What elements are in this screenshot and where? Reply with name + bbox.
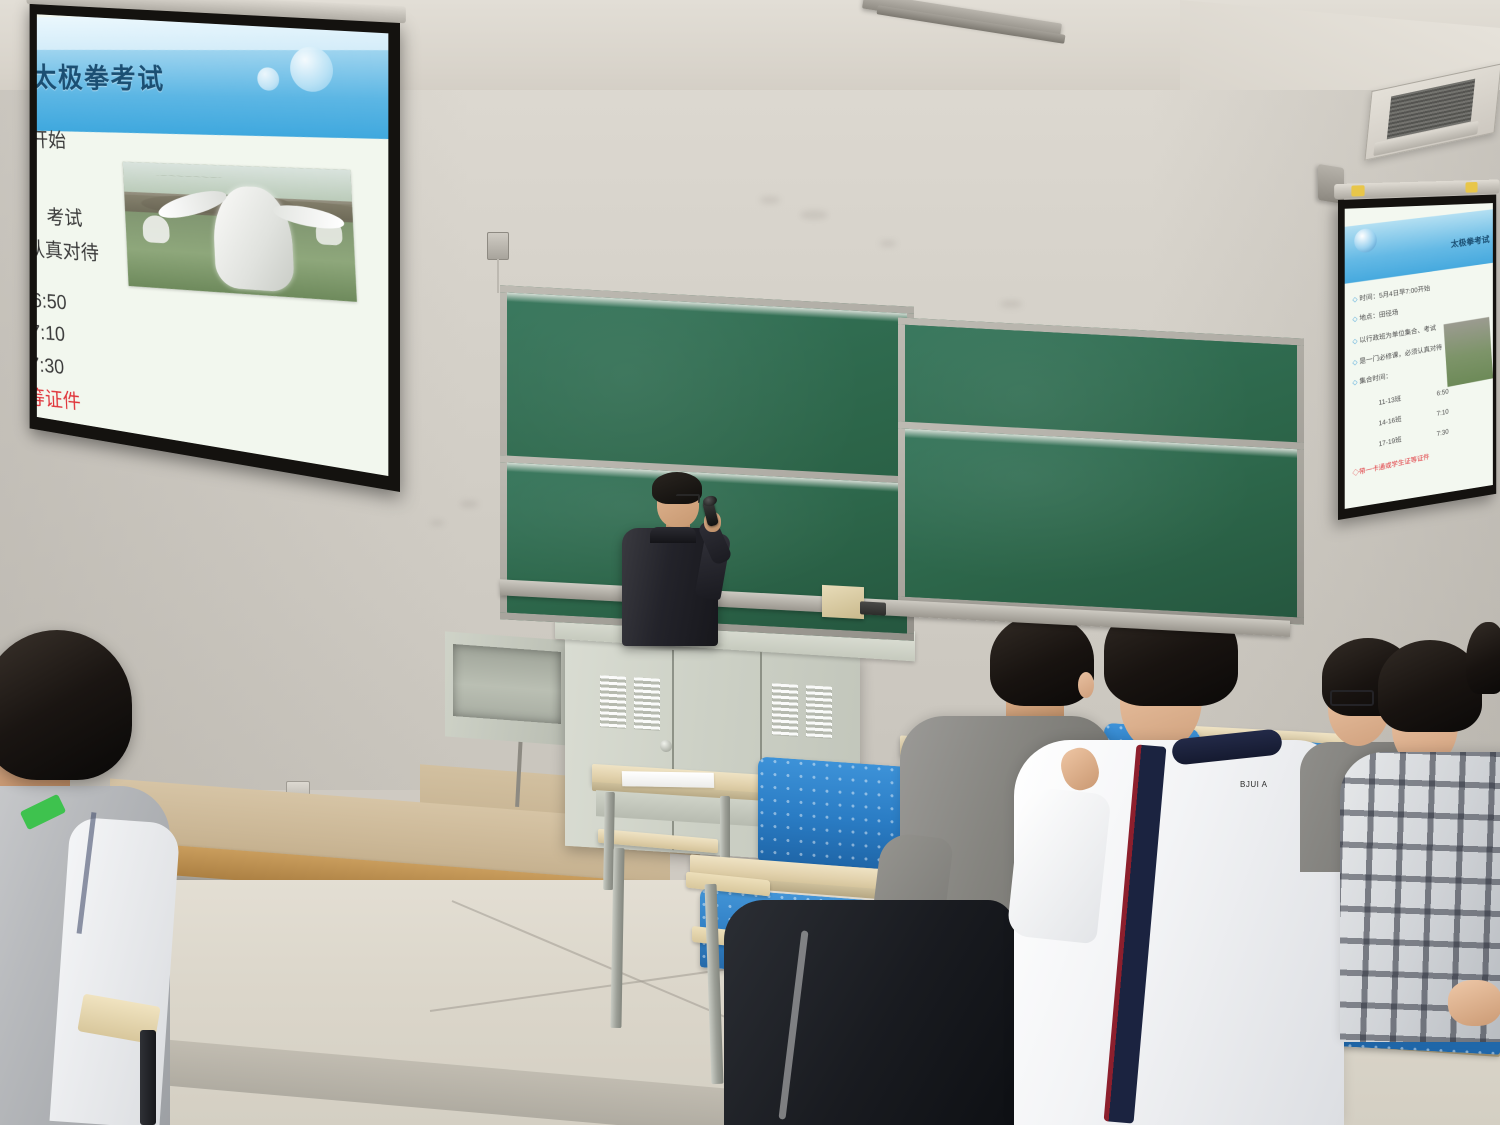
projection-screen-right: 太极拳考试 ◇时间：5月4日早7:00开始 ◇地点：田径场 ◇以行政班为单位集合… <box>1338 195 1496 520</box>
jacket-logo: BJUI A <box>1240 780 1272 789</box>
podium-shelf-interior <box>453 644 561 724</box>
blackboard-eraser <box>860 601 886 615</box>
slide-schedule-class: 14-16班 <box>1378 414 1402 428</box>
slide-line: 认真对待 <box>37 233 100 267</box>
slide-title: 太极拳考试 <box>37 55 166 97</box>
wall-scuff <box>430 520 444 526</box>
screen-surface: 太极拳考试 ◇时间：5月4日早7:00开始 ◇地点：田径场 ◇以行政班为单位集合… <box>1345 203 1493 509</box>
wall-scuff <box>880 240 896 247</box>
slide-footer-red: 带一卡通或学生证等证件 <box>1359 454 1430 476</box>
slide-line: 、考试 <box>37 200 83 232</box>
paper-sheet <box>622 771 714 788</box>
lecturer-collar <box>650 527 696 543</box>
slide-bullet: 时间：5月4日早7:00开始 <box>1359 286 1430 303</box>
slide-time: 7:10 <box>37 320 66 347</box>
slide-schedule-class: 17-19班 <box>1378 434 1402 448</box>
slide-line: 开始 <box>37 123 67 153</box>
screen-surface: 太极拳考试 开始 、考试 认真对待 6:50 7:10 7:30 等证件 <box>37 14 389 476</box>
chalkboard-panel-lower-right <box>898 421 1304 624</box>
slide-time: 7:30 <box>37 352 65 379</box>
photo-statue-secondary <box>142 214 170 243</box>
slide-bullet: 地点：田径场 <box>1359 310 1398 323</box>
chalk-box <box>822 585 864 619</box>
classroom-scene: 太极拳考试 开始 、考试 认真对待 6:50 7:10 7:30 等证件 <box>0 0 1500 1125</box>
glasses-icon <box>1330 690 1374 706</box>
slide-note-red: 等证件 <box>37 381 81 416</box>
student-hand <box>1448 980 1500 1026</box>
slide-bullet: 以行政班为单位集合、考试 <box>1359 325 1436 345</box>
slide-bullet: 集合时间： <box>1359 372 1392 385</box>
podium-vent-icon <box>806 685 832 739</box>
slide-schedule-time: 7:30 <box>1436 428 1448 437</box>
screen-clip <box>1466 182 1478 193</box>
slide-time: 6:50 <box>37 288 67 314</box>
slide-schedule-class: 11-13班 <box>1378 393 1401 407</box>
chair-leg <box>140 1030 156 1125</box>
slide-schedule-time: 6:50 <box>1436 388 1448 397</box>
podium-door-knob[interactable] <box>660 740 672 753</box>
student-trousers <box>724 900 1014 1125</box>
wall-scuff <box>460 500 478 508</box>
student-shirt-sleeve <box>49 817 180 1125</box>
wall-scuff <box>800 210 828 220</box>
slide-schedule-time: 7:10 <box>1436 408 1448 417</box>
wall-sensor <box>487 232 509 260</box>
screen-clip <box>1351 185 1364 196</box>
wall-scuff <box>760 196 780 204</box>
student-arm <box>1006 786 1111 945</box>
podium-vent-icon <box>772 683 798 737</box>
glasses-icon <box>676 494 700 503</box>
green-chalkboard <box>500 290 1290 620</box>
podium-vent-icon <box>634 677 660 731</box>
slide-photo-taichi <box>1444 317 1493 387</box>
slide-bullet: 是一门必修课，必须认真对待 <box>1359 345 1442 366</box>
podium-vent-icon <box>600 675 626 729</box>
chalkboard-surface <box>905 429 1297 618</box>
slide-photo-taichi <box>123 161 357 301</box>
projection-screen-left: 太极拳考试 开始 、考试 认真对待 6:50 7:10 7:30 等证件 <box>30 3 400 492</box>
student-ear <box>1078 672 1094 698</box>
